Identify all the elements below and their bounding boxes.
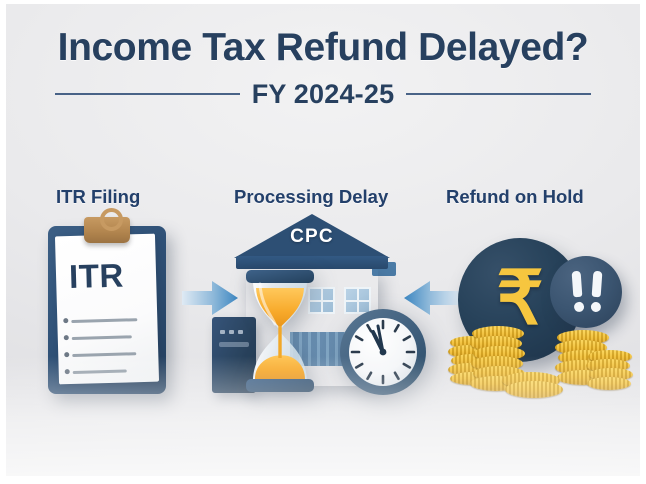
- title-block: Income Tax Refund Delayed? FY 2024-25: [6, 28, 640, 110]
- title-rule-right: [406, 93, 591, 95]
- double-exclamation-icon: [550, 256, 622, 328]
- clipboard-clip-ring: [100, 208, 123, 231]
- caption-refund-on-hold: Refund on Hold: [446, 186, 584, 208]
- title-rule-left: [55, 93, 240, 95]
- itr-document-label: ITR: [69, 257, 125, 297]
- clipboard-icon: ITR: [48, 226, 166, 394]
- illustration-scene: ITR: [6, 214, 640, 429]
- infographic-poster: Income Tax Refund Delayed? FY 2024-25 IT…: [0, 0, 646, 484]
- rupee-coin-icon: ₹: [446, 230, 628, 410]
- poster-canvas: Income Tax Refund Delayed? FY 2024-25 IT…: [6, 4, 640, 476]
- exclamation-mark: [572, 271, 584, 313]
- hourglass-icon: [244, 266, 316, 396]
- caption-itr-filing: ITR Filing: [56, 186, 140, 208]
- subtitle-row: FY 2024-25: [6, 79, 640, 110]
- arrow-right-icon: [182, 280, 238, 316]
- caption-processing-delay: Processing Delay: [234, 186, 388, 208]
- subtitle: FY 2024-25: [252, 79, 395, 110]
- page-title: Income Tax Refund Delayed?: [6, 28, 640, 69]
- exclamation-mark: [591, 271, 603, 313]
- clock-icon: [339, 308, 427, 396]
- clipboard-paper: ITR: [55, 234, 159, 385]
- building-sign: CPC: [234, 226, 390, 248]
